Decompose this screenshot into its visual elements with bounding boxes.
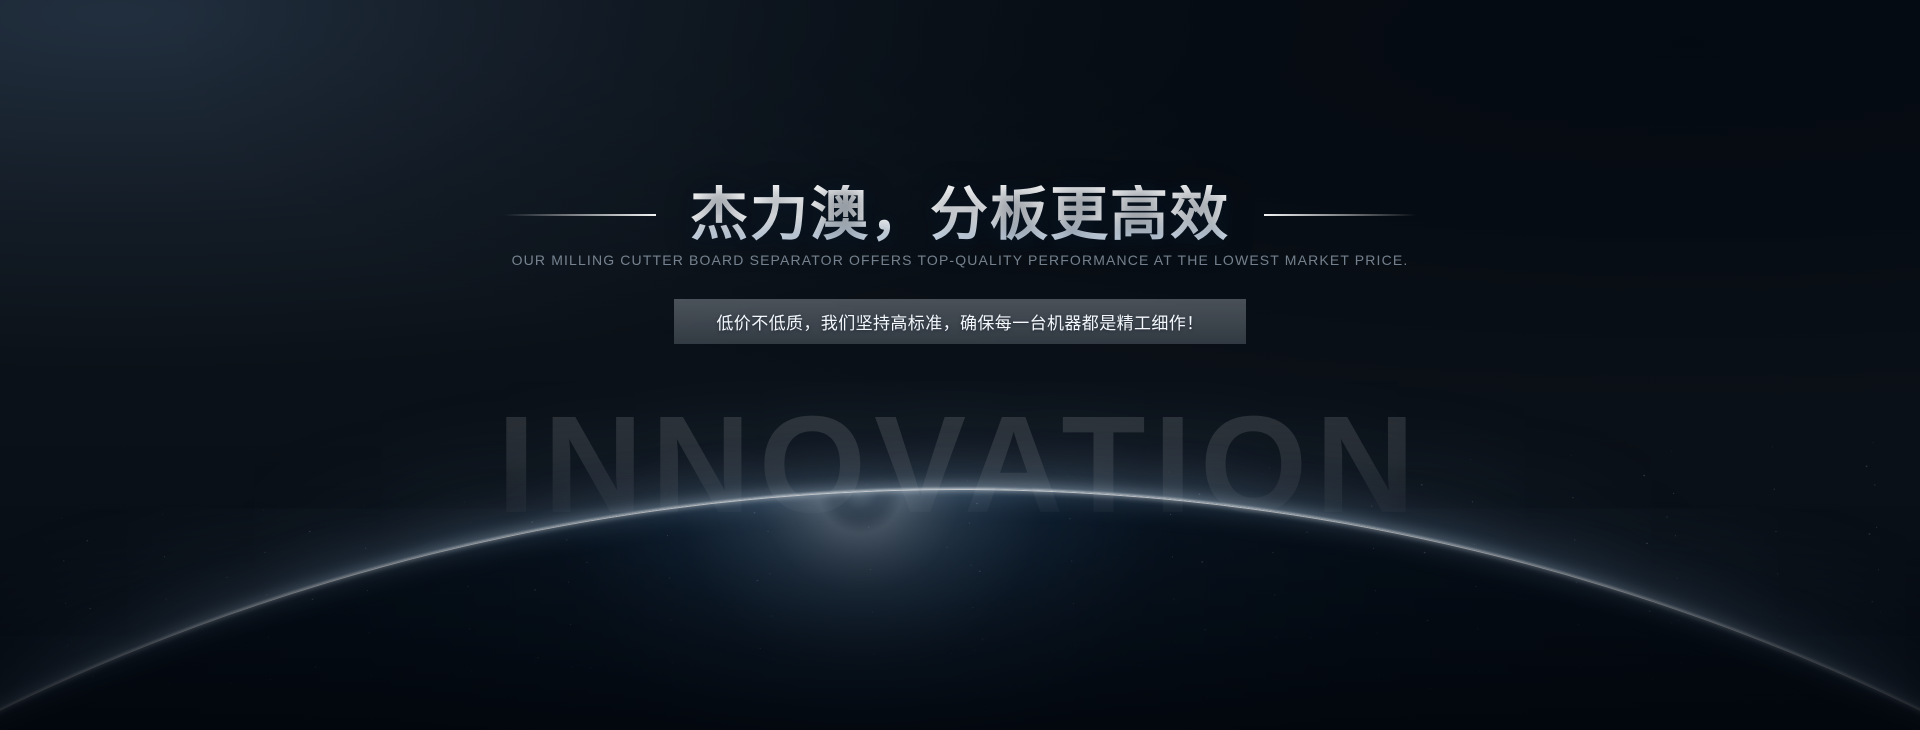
decorative-rule-left: [504, 214, 656, 216]
page-title: 杰力澳，分板更高效: [690, 185, 1230, 246]
hero-banner: INNOVATION 杰力澳，分板更高效 OUR MILLING CUTTER …: [0, 0, 1920, 730]
earth-horizon: [0, 0, 1920, 730]
planet-body: [0, 391, 1920, 730]
decorative-rule-right: [1264, 214, 1416, 216]
hero-subtitle-english: OUR MILLING CUTTER BOARD SEPARATOR OFFER…: [0, 252, 1920, 268]
tagline-bar: 低价不低质，我们坚持高标准，确保每一台机器都是精工细作！: [674, 299, 1246, 344]
tagline-text: 低价不低质，我们坚持高标准，确保每一台机器都是精工细作！: [716, 309, 1203, 334]
